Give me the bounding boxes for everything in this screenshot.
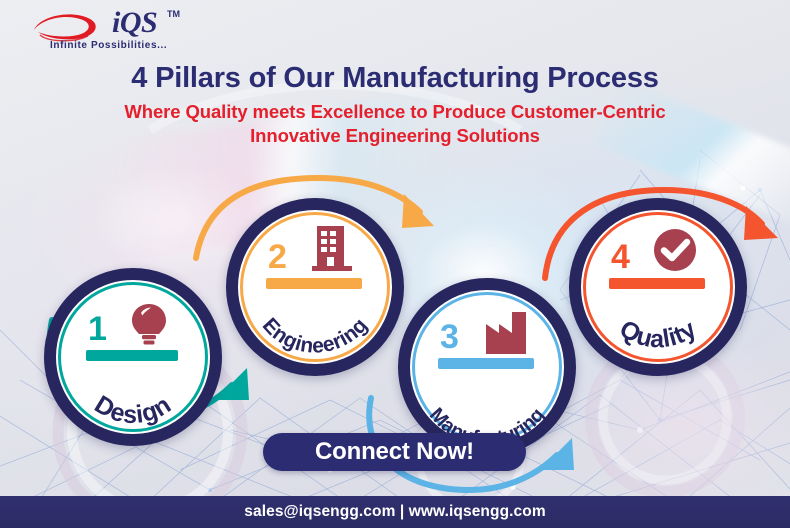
pillar-3-label-curve: Manufacturing bbox=[398, 278, 576, 456]
pillar-1-label-curve: Design bbox=[44, 268, 222, 446]
svg-text:Design: Design bbox=[90, 390, 177, 429]
infographic-canvas: iQS TM Infinite Possibilities... 4 Pilla… bbox=[0, 0, 790, 528]
pillar-1-label: Design bbox=[90, 390, 177, 429]
pillar-3-manufacturing[interactable]: 3 Manufacturing bbox=[398, 278, 576, 456]
svg-text:Engineering: Engineering bbox=[258, 314, 372, 358]
pillar-2-label-curve: Engineering bbox=[226, 198, 404, 376]
pillar-4-label-curve: Quality bbox=[569, 198, 747, 376]
pillar-2-engineering[interactable]: 2 Engineering bbox=[226, 198, 404, 376]
contact-info[interactable]: sales@iqsengg.com | www.iqsengg.com bbox=[244, 503, 545, 521]
pillar-4-label: Quality bbox=[615, 315, 702, 354]
pillar-2-label: Engineering bbox=[258, 314, 372, 358]
footer-contact-bar: sales@iqsengg.com | www.iqsengg.com bbox=[0, 496, 790, 528]
connect-now-button[interactable]: Connect Now! bbox=[263, 433, 526, 471]
svg-text:Quality: Quality bbox=[615, 315, 702, 354]
pillar-4-quality[interactable]: 4 Quality bbox=[569, 198, 747, 376]
pillar-1-design[interactable]: 1 Design bbox=[44, 268, 222, 446]
